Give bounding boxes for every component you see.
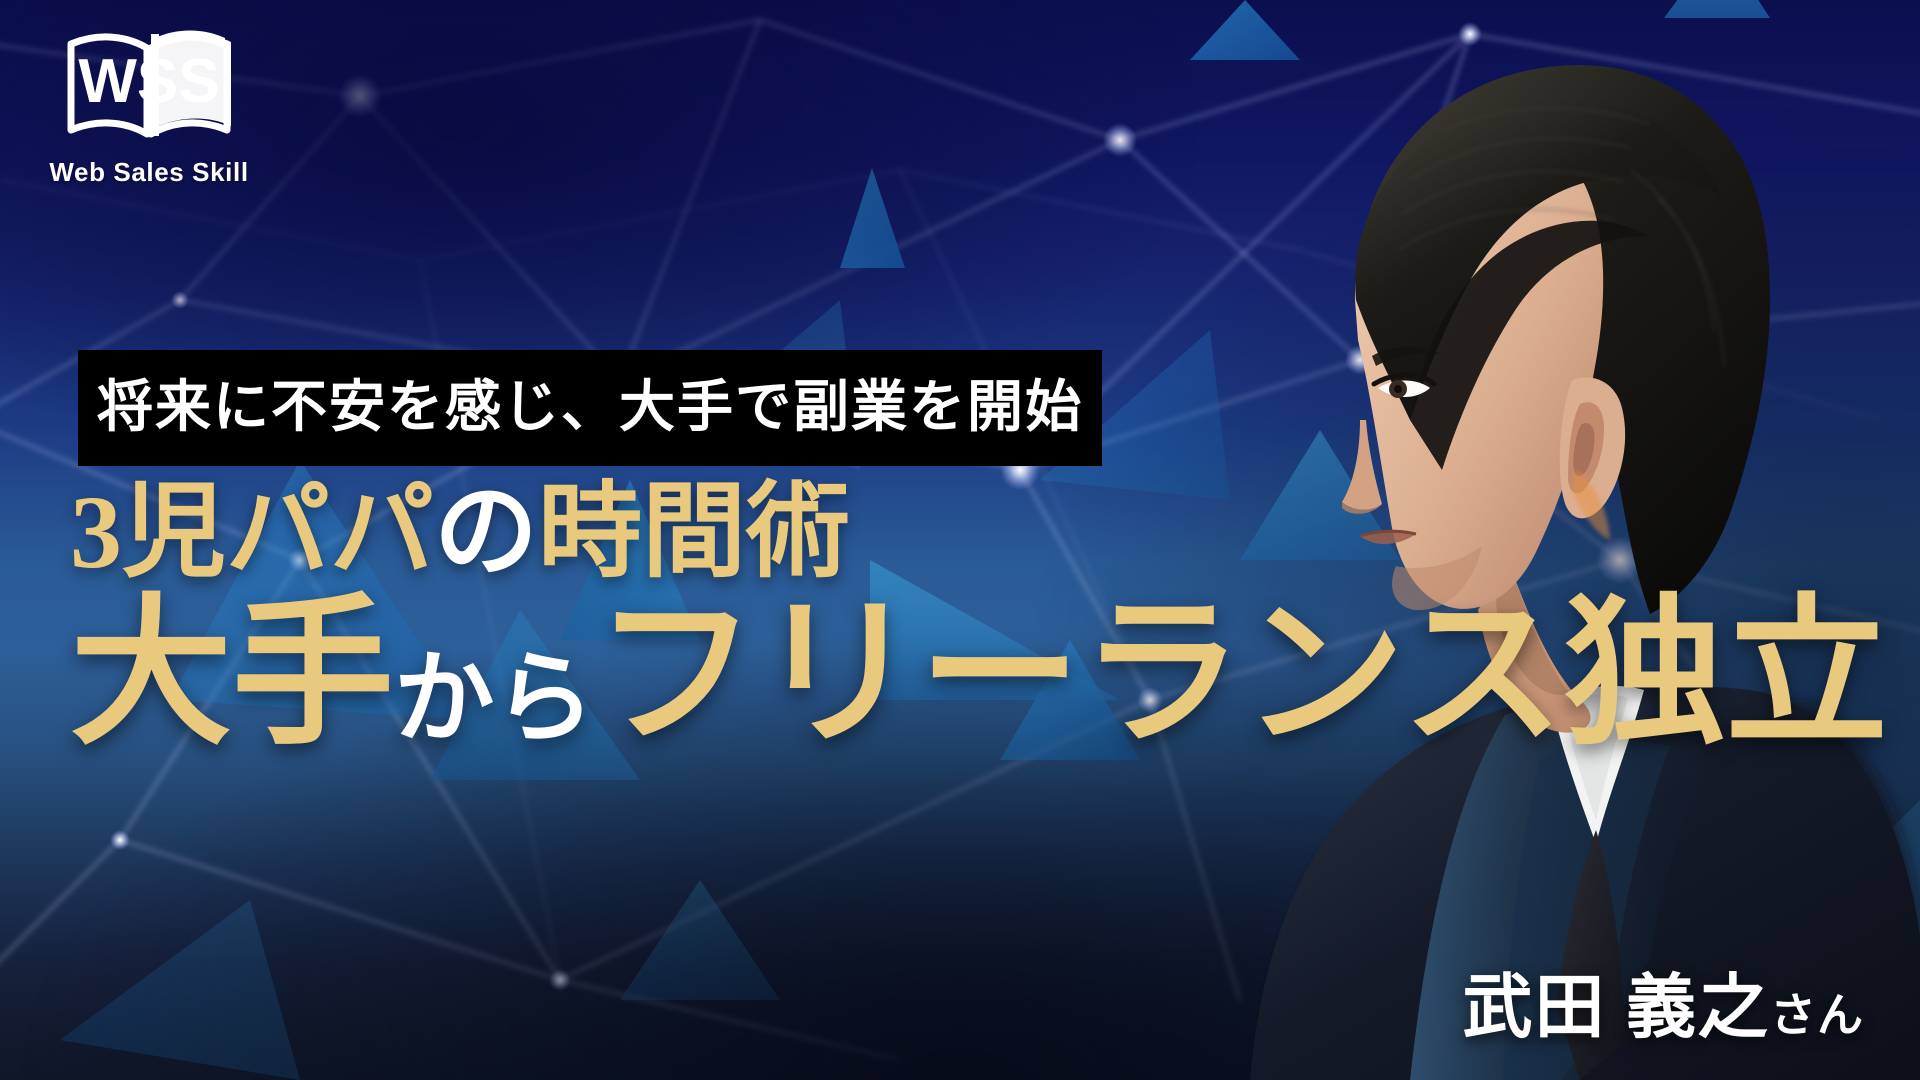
kicker-text: 将来に不安を感じ、大手で副業を開始 <box>97 380 1083 436</box>
headline-line-2-gold-a: 大手 <box>70 586 394 765</box>
headline-line-1: 3児パパの時間術 <box>70 478 1910 587</box>
headline-line-1-gold-b: 時間術 <box>538 475 850 590</box>
profile-name-block: 武田 義之さん <box>1463 974 1865 1044</box>
kicker-banner: 将来に不安を感じ、大手で副業を開始 <box>78 350 1102 466</box>
open-book-icon: WSS S <box>59 18 239 153</box>
logo-wordmark: Web Sales Skill <box>34 157 264 188</box>
headline-line-2: 大手からフリーランス独立 <box>70 593 1910 758</box>
profile-name: 武田 義之 <box>1463 970 1771 1047</box>
profile-name-suffix: さん <box>1770 990 1864 1041</box>
headline-line-1-white: の <box>434 475 538 590</box>
brand-logo[interactable]: WSS S Web Sales Skill <box>34 18 264 208</box>
banner-canvas: WSS S Web Sales Skill 将来に不安を感じ、大手で副業を開始 … <box>0 0 1920 1080</box>
headline-line-1-gold-a: 3児パパ <box>70 475 434 590</box>
headline-line-2-white: から <box>394 643 595 755</box>
headline-block: 3児パパの時間術 大手からフリーランス独立 <box>70 478 1910 758</box>
headline-line-2-gold-b: フリーランス独立 <box>595 586 1888 765</box>
